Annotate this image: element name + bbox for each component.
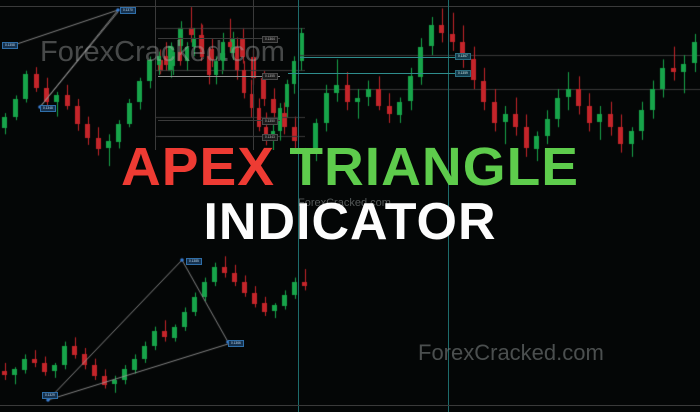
price-chip-mid-top-1: 0.1355 [262, 73, 278, 80]
price-chip-top-left-1: 0.1358 [2, 42, 18, 49]
chart-panel-top-right [300, 0, 700, 212]
price-chip-top-left-2: 0.1348 [40, 105, 56, 112]
price-chip-mid-top-2: 0.1350 [262, 118, 278, 125]
chart-panel-mid-top [155, 0, 305, 150]
price-chip-top-right-1: 0.1359 [455, 70, 471, 77]
watermark-top-left: ForexCracked.com [40, 36, 285, 69]
promo-banner: 0.1364 0.1355 0.1350 0.1343 0.1367 0.135… [0, 0, 700, 412]
candlestick-canvas-top-right [300, 0, 700, 212]
candlestick-canvas-bottom-left [0, 252, 310, 412]
watermark-bottom-right: ForexCracked.com [418, 340, 604, 366]
chart-panel-bottom-left [0, 252, 310, 412]
price-chip-top-left-0: 0.1370 [120, 7, 136, 14]
price-chip-mid-top-3: 0.1343 [262, 134, 278, 141]
price-chip-top-right-0: 0.1367 [455, 53, 471, 60]
candlestick-canvas-mid-top [155, 0, 305, 150]
price-chip-bottom-left-1: 0.1366 [228, 340, 244, 347]
price-chip-bottom-left-0: 0.1385 [186, 258, 202, 265]
watermark-center: ForexCracked.com [298, 197, 391, 209]
price-chip-bottom-left-2: 0.1329 [42, 392, 58, 399]
